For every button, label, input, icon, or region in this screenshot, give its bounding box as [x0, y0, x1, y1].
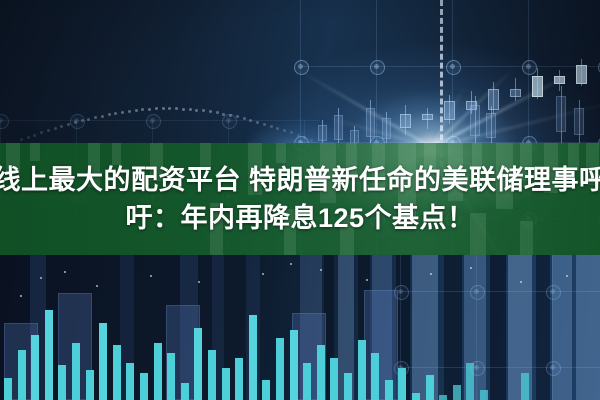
data-bar	[276, 338, 284, 400]
data-bar	[99, 323, 107, 400]
data-bar	[426, 375, 434, 400]
data-bar	[453, 385, 461, 400]
spark-dot	[470, 267, 472, 269]
data-bar	[303, 363, 311, 400]
spark-dot	[430, 273, 432, 275]
data-bar	[439, 395, 447, 400]
data-bar	[86, 370, 94, 400]
data-bar	[18, 350, 26, 400]
data-bar	[317, 345, 325, 400]
grid-node-icon	[546, 285, 561, 300]
spark-dot	[96, 285, 98, 287]
data-bar	[208, 350, 216, 400]
background-bar	[364, 290, 398, 400]
spark-dot	[366, 279, 368, 281]
data-bar	[290, 330, 298, 400]
spark-dot	[150, 275, 152, 277]
spark-dot	[198, 281, 200, 283]
spark-dot	[290, 263, 292, 265]
data-bar	[385, 380, 393, 400]
data-bar	[181, 383, 189, 400]
data-bar	[113, 345, 121, 400]
spark-dot	[520, 281, 522, 283]
data-bar	[58, 365, 66, 400]
headline-line-2: 吁：年内再降息125个基点！	[125, 201, 474, 235]
data-bar	[466, 363, 474, 400]
headline-line-1: 线上最大的配资平台 特朗普新任命的美联储理事呼	[0, 163, 600, 197]
data-bar	[398, 368, 406, 400]
data-bar	[72, 343, 80, 400]
promo-banner-image: 线上最大的配资平台 特朗普新任命的美联储理事呼 吁：年内再降息125个基点！	[0, 0, 600, 400]
data-bar	[31, 335, 39, 400]
data-bar	[330, 358, 338, 400]
data-bar	[412, 393, 420, 400]
data-bar	[358, 340, 366, 400]
data-bar	[249, 315, 257, 400]
data-bar	[344, 373, 352, 400]
spark-dot	[566, 275, 568, 277]
lower-bar-chart-scene	[0, 255, 600, 400]
data-bar	[126, 363, 134, 400]
data-bar	[167, 353, 175, 400]
data-bar	[262, 380, 270, 400]
data-bar	[222, 368, 230, 400]
spark-dot	[320, 269, 322, 271]
grid-node-icon	[546, 361, 561, 376]
data-bar	[371, 353, 379, 400]
headline-text-block: 线上最大的配资平台 特朗普新任命的美联储理事呼 吁：年内再降息125个基点！	[0, 143, 600, 255]
data-bar	[480, 390, 488, 400]
data-bar	[154, 343, 162, 400]
data-bar	[194, 328, 202, 400]
headline-banner: 线上最大的配资平台 特朗普新任命的美联储理事呼 吁：年内再降息125个基点！	[0, 143, 600, 255]
data-bar	[45, 310, 53, 400]
data-bar	[521, 373, 529, 400]
data-bar	[140, 373, 148, 400]
grid-node-icon	[470, 285, 485, 300]
spark-dot	[40, 277, 42, 279]
spark-dot	[64, 271, 66, 273]
spark-dot	[262, 273, 264, 275]
spark-dot	[20, 295, 22, 297]
data-bar	[235, 358, 243, 400]
data-bar	[4, 378, 12, 400]
